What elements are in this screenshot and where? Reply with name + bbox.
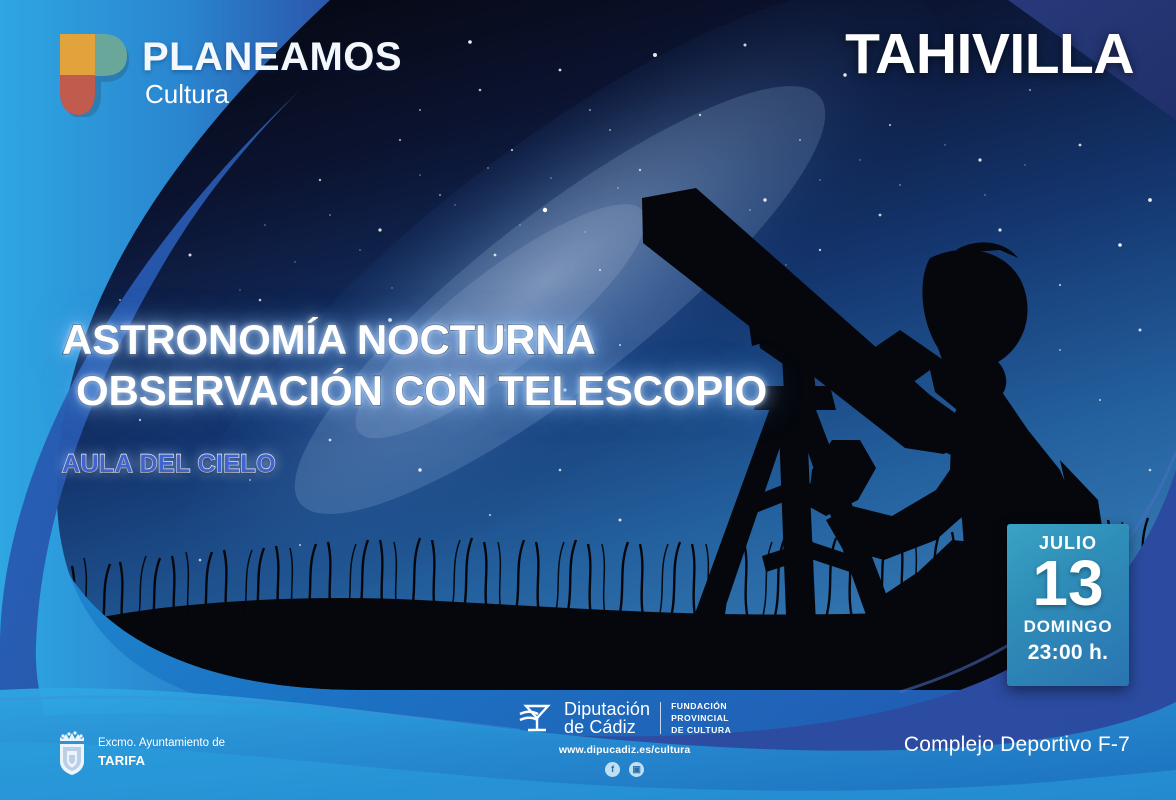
title-subtitle: AULA DEL CIELO bbox=[62, 450, 767, 479]
title-line-1: ASTRONOMÍA NOCTURNA bbox=[62, 314, 767, 365]
title-line-2: OBSERVACIÓN CON TELESCOPIO bbox=[76, 365, 767, 416]
tarifa-line-1: Excmo. Ayuntamiento de bbox=[98, 737, 225, 749]
diputacion-name-2: de Cádiz bbox=[564, 718, 650, 736]
planeamos-mark-icon bbox=[57, 31, 129, 117]
logo-divider bbox=[660, 702, 661, 734]
instagram-icon[interactable]: ▣ bbox=[629, 762, 644, 777]
facebook-icon[interactable]: f bbox=[605, 762, 620, 777]
event-poster: PLANEAMOS Cultura TAHIVILLA ASTRONOMÍA N… bbox=[0, 0, 1176, 800]
tarifa-line-2: TARIFA bbox=[98, 752, 225, 770]
website-url[interactable]: www.dipucadiz.es/cultura bbox=[559, 744, 691, 756]
diputacion-mark-icon bbox=[518, 701, 556, 735]
date-day: 13 bbox=[1032, 552, 1103, 615]
title-block: ASTRONOMÍA NOCTURNA OBSERVACIÓN CON TELE… bbox=[62, 314, 767, 479]
brand-name: PLANEAMOS bbox=[142, 37, 402, 77]
town-name: TAHIVILLA bbox=[845, 21, 1134, 87]
diputacion-logo-block: Diputación de Cádiz FUNDACIÓN PROVINCIAL… bbox=[518, 700, 731, 777]
diputacion-name-1: Diputación bbox=[564, 700, 650, 718]
fundacion-line-2: PROVINCIAL bbox=[671, 712, 731, 724]
date-badge: JULIO 13 DOMINGO 23:00 h. bbox=[1007, 524, 1129, 686]
brand-logo: PLANEAMOS Cultura bbox=[57, 31, 402, 117]
date-time: 23:00 h. bbox=[1028, 641, 1109, 665]
date-weekday: DOMINGO bbox=[1024, 617, 1113, 637]
venue-name: Complejo Deportivo F-7 bbox=[904, 733, 1130, 757]
tarifa-council-logo: Excmo. Ayuntamiento de TARIFA bbox=[55, 730, 225, 776]
tarifa-crest-icon bbox=[55, 730, 89, 776]
fundacion-line-1: FUNDACIÓN bbox=[671, 700, 731, 712]
social-links: f ▣ bbox=[605, 762, 644, 777]
brand-subtitle: Cultura bbox=[145, 81, 402, 107]
fundacion-line-3: DE CULTURA bbox=[671, 724, 731, 736]
